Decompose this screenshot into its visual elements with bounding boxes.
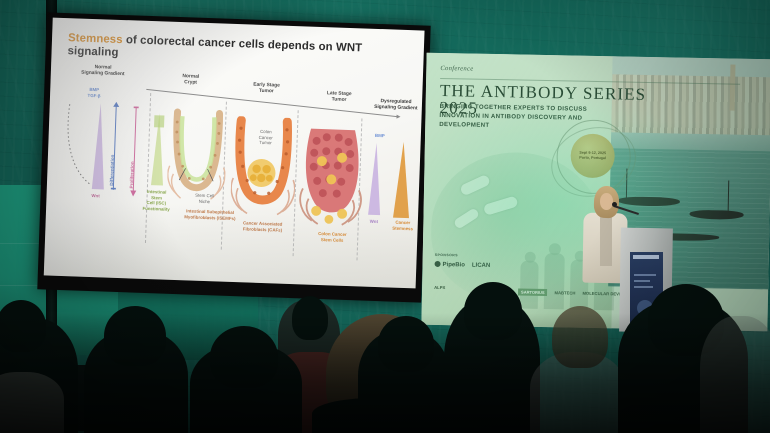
lectern-text-line (634, 280, 650, 282)
pipebio-mark-icon (435, 261, 441, 267)
clerigos-tower (730, 65, 736, 111)
column-heading-early-tumor: Early Stage Tumor (236, 82, 296, 96)
cancer-stemness-label: Cancer Stemness (386, 219, 420, 232)
lectern-logo-bar (633, 255, 659, 259)
lectern-text-line (634, 286, 653, 288)
audience-head (464, 282, 522, 340)
seal-location: Porto, Portugal (579, 156, 606, 161)
audience-person (700, 316, 770, 433)
column-heading-late-tumor: Late Stage Tumor (309, 91, 369, 105)
slide-title-highlight: Stemness (68, 32, 123, 46)
sponsor-logo: MABTECH (554, 290, 575, 295)
column-heading-normal-crypt: Normal Crypt (162, 73, 218, 87)
lectern-text-line (634, 274, 656, 276)
audience-head (292, 296, 328, 340)
audience-head (378, 316, 434, 372)
sponsor-logo: LICAN (472, 262, 490, 268)
audience-head (552, 306, 608, 368)
audience-head (210, 326, 278, 388)
conference-photo-scene: Stemness of colorectal cancer cells depe… (0, 0, 770, 433)
sponsors-secondary-row-left: ALPX (434, 285, 445, 290)
caf-label: Cancer Associated Fibroblasts (CAFs) (231, 220, 293, 234)
cancer-stemness-triangle (390, 142, 415, 221)
bmp-tgfb-label: BMP TGF-β (72, 86, 116, 99)
sponsor-logo: PipeBio (435, 261, 465, 269)
audience-person (0, 372, 64, 433)
sponsor-logo: ALPX (434, 285, 445, 290)
column-heading-dysregulated-gradient: Dysregulated Signaling Gradient (366, 99, 425, 113)
column-heading-normal-gradient: Normal Signaling Gradient (67, 64, 139, 79)
conference-kicker: Conference (440, 65, 473, 73)
bmp-right-label: BMP (367, 133, 393, 140)
sponsors-kicker: SPONSORS (435, 253, 458, 257)
signaling-curve (61, 98, 100, 191)
audience-head (0, 300, 46, 352)
colon-cancer-tumor-label: Colon Cancer Tumor (248, 129, 283, 147)
microphone-icon (612, 202, 617, 207)
stem-cell-niche-label: Stem Cell Niche (184, 192, 224, 205)
late-stage-tumor-illustration (297, 122, 365, 240)
sponsors-primary-row: PipeBio LICAN (435, 261, 491, 269)
audience-head (104, 306, 166, 366)
wnt-right-triangle (364, 143, 387, 218)
colon-cancer-stem-cells-label: Colon Cancer Stem Cells (307, 231, 357, 244)
wnt-right-label: Wnt (360, 218, 388, 225)
wnt-label: Wnt (78, 193, 112, 200)
sponsor-logo: SARTORIUS (518, 289, 548, 297)
speaker-inner-top (600, 216, 612, 266)
left-display-panel[interactable]: Stemness of colorectal cancer cells depe… (37, 12, 430, 302)
isc-functionality-triangle (147, 113, 170, 188)
slide-title: Stemness of colorectal cancer cells depe… (67, 32, 416, 70)
presentation-slide: Stemness of colorectal cancer cells depe… (44, 18, 425, 289)
speaker-face (600, 193, 613, 210)
progression-arrow-icon (396, 115, 400, 119)
proliferation-axis-label: Proliferation (129, 161, 135, 188)
